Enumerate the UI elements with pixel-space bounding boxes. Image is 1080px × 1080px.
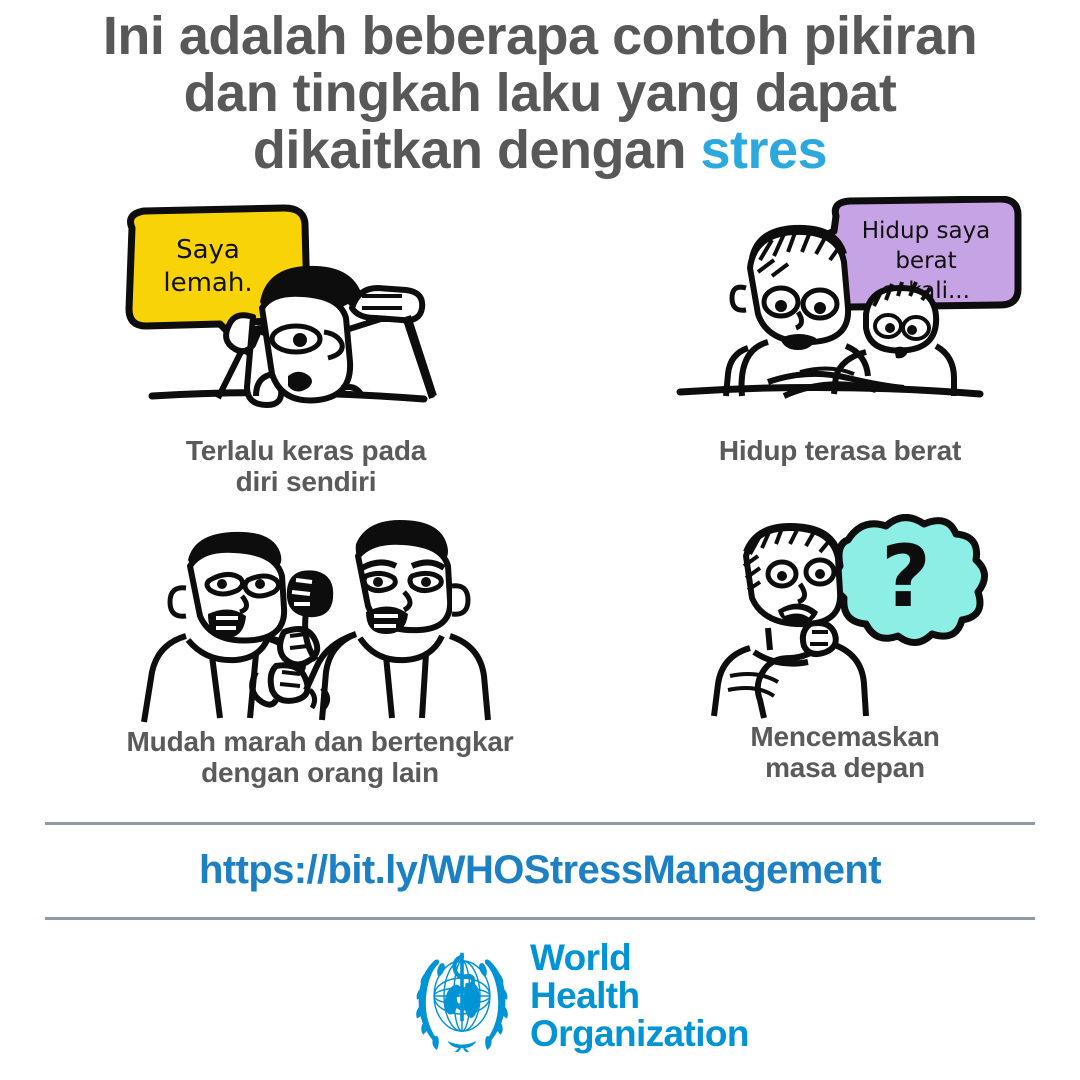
caption-line-1: Mencemaskan: [650, 721, 1040, 752]
panel-mencemaskan-masa-depan: ?: [650, 514, 1040, 783]
divider-bottom: [45, 917, 1035, 920]
title-line-3: dikaitkan dengan stres: [0, 122, 1080, 179]
caption-line-1: Mudah marah dan bertengkar: [60, 726, 580, 757]
panel-caption: Terlalu keras pada diri sendiri: [96, 435, 516, 497]
panel-caption: Hidup terasa berat: [640, 435, 1040, 466]
who-emblem-icon: [408, 940, 516, 1052]
who-wordmark-line-1: World Health: [530, 939, 749, 1015]
caption-line-1: Terlalu keras pada: [96, 435, 516, 466]
panel-hidup-terasa-berat: Hidup saya berat sekali...: [640, 196, 1040, 466]
panel-terlalu-keras-pada-diri-sendiri: Saya lemah.: [96, 196, 516, 497]
title-keyword-stres: stres: [701, 120, 828, 180]
page-title: Ini adalah beberapa contoh pikiran dan t…: [0, 8, 1080, 179]
caption-line-2: masa depan: [650, 752, 1040, 783]
title-line-3-prefix: dikaitkan dengan: [253, 120, 701, 180]
illustration-two-men-arguing: [60, 514, 580, 724]
illustration-grid: Saya lemah.: [0, 196, 1080, 796]
caption-line-1: Hidup terasa berat: [640, 435, 1040, 466]
divider-top: [45, 822, 1035, 825]
resource-link[interactable]: https://bit.ly/WHOStressManagement: [0, 848, 1080, 893]
panel-mudah-marah-dan-bertengkar: Mudah marah dan bertengkar dengan orang …: [60, 514, 580, 788]
illustration-man-head-in-hands: Saya lemah.: [96, 196, 516, 431]
illustration-parent-holding-baby: Hidup saya berat sekali...: [640, 196, 1040, 431]
bubble-text-question-mark: ?: [881, 527, 931, 627]
caption-line-2: dengan orang lain: [60, 757, 580, 788]
who-logo: World Health Organization: [408, 938, 708, 1054]
who-wordmark-line-2: Organization: [530, 1015, 749, 1053]
bubble-text-line-2: berat: [895, 248, 956, 274]
bubble-text-line-2: lemah.: [163, 268, 252, 298]
bubble-text-line-1: Hidup saya: [862, 218, 991, 244]
illustration-worried-man-question: ?: [650, 514, 1040, 719]
caption-line-2: diri sendiri: [96, 466, 516, 497]
panel-caption: Mencemaskan masa depan: [650, 721, 1040, 783]
title-line-2: dan tingkah laku yang dapat: [0, 65, 1080, 122]
who-wordmark: World Health Organization: [530, 939, 749, 1053]
title-line-1: Ini adalah beberapa contoh pikiran: [0, 8, 1080, 65]
panel-caption: Mudah marah dan bertengkar dengan orang …: [60, 726, 580, 788]
poster-canvas: Ini adalah beberapa contoh pikiran dan t…: [0, 0, 1080, 1080]
